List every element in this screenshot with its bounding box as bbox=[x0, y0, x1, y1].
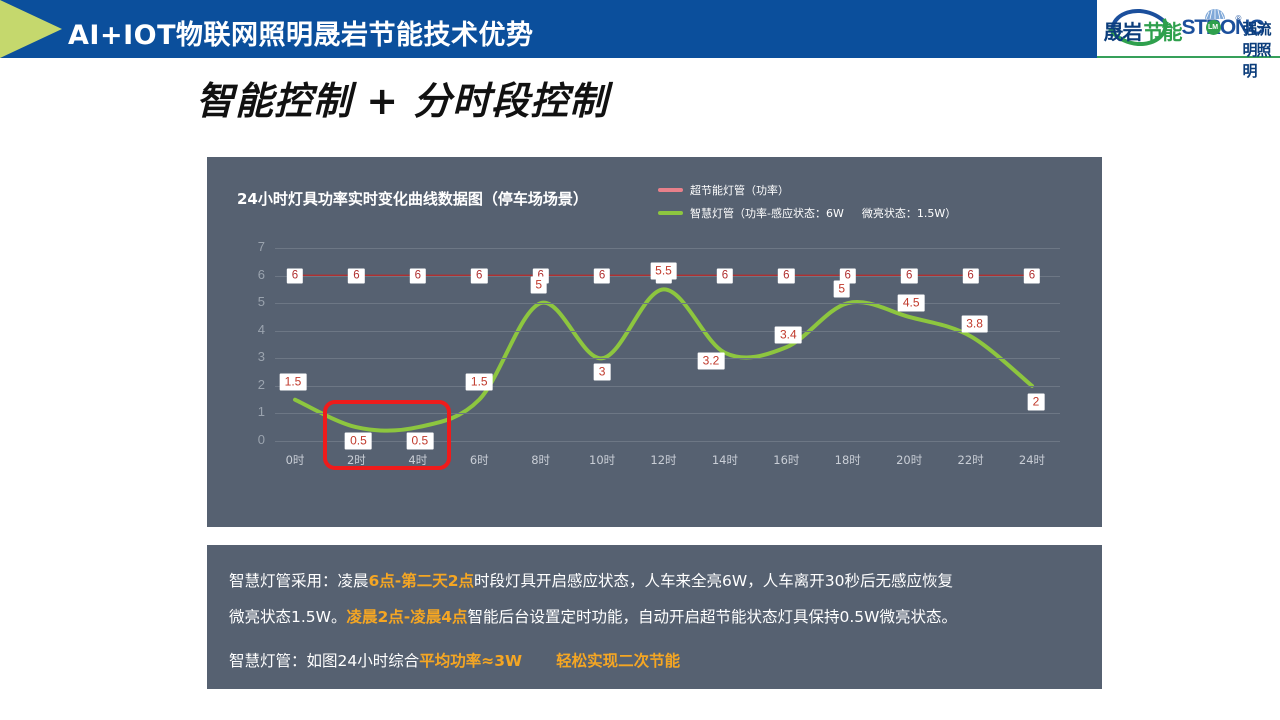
note-2-text-a: 微亮状态1.5W。 bbox=[229, 608, 346, 626]
y-axis-tick-label: 3 bbox=[245, 349, 265, 364]
x-axis-tick-label: 10时 bbox=[577, 452, 627, 468]
chart-data-label: 3 bbox=[594, 364, 611, 381]
company-logo: 晟岩 节能 STRONG LM ® 强流明照明 bbox=[1097, 0, 1280, 58]
chart-data-label: 5 bbox=[833, 281, 850, 298]
y-axis-tick-label: 2 bbox=[245, 377, 265, 392]
header-title: AI+IOT物联网照明晟岩节能技术优势 bbox=[68, 13, 533, 52]
note-line-3: 智慧灯管：如图24小时综合平均功率≈3W轻松实现二次节能 bbox=[229, 643, 1080, 679]
x-axis-tick-label: 20时 bbox=[884, 452, 934, 468]
chart-data-label: 1.5 bbox=[466, 373, 493, 390]
x-axis-tick-label: 0时 bbox=[270, 452, 320, 468]
x-axis-tick-label: 24时 bbox=[1007, 452, 1057, 468]
y-axis-tick-label: 7 bbox=[245, 239, 265, 254]
chart-data-label: 6 bbox=[410, 268, 426, 283]
note-2-text-b: 智能后台设置定时功能，自动开启超节能状态灯具保持0.5W微亮状态。 bbox=[468, 608, 957, 626]
note-3-highlight-2: 轻松实现二次节能 bbox=[556, 652, 680, 670]
y-axis-tick-label: 0 bbox=[245, 432, 265, 447]
chart-svg bbox=[207, 157, 1102, 527]
logo-text-jieneng: 节能 bbox=[1144, 16, 1182, 45]
note-2-highlight: 凌晨2点-凌晨4点 bbox=[346, 608, 467, 626]
logo-registered-mark: ® bbox=[1236, 14, 1242, 23]
chart-data-label: 6 bbox=[778, 268, 794, 283]
logo-fan-icon bbox=[1204, 7, 1226, 19]
chart-data-label: 6 bbox=[594, 268, 610, 283]
grid-line bbox=[275, 358, 1060, 359]
highlight-rectangle bbox=[323, 400, 450, 470]
grid-line bbox=[275, 303, 1060, 304]
chart-data-label: 3.8 bbox=[961, 316, 988, 333]
y-axis-tick-label: 1 bbox=[245, 404, 265, 419]
grid-line bbox=[275, 386, 1060, 387]
y-axis-tick-label: 4 bbox=[245, 322, 265, 337]
y-axis-tick-label: 6 bbox=[245, 267, 265, 282]
x-axis-tick-label: 6时 bbox=[454, 452, 504, 468]
note-line-1: 智慧灯管采用：凌晨6点-第二天2点时段灯具开启感应状态，人车来全亮6W，人车离开… bbox=[229, 563, 1080, 599]
note-3-text-a: 智慧灯管：如图24小时综合 bbox=[229, 652, 419, 670]
logo-lm-badge: LM bbox=[1206, 20, 1221, 35]
logo-text-qiangliuming: 强流明照明 bbox=[1243, 18, 1278, 81]
chart-data-label: 3.2 bbox=[698, 352, 725, 369]
chart-data-label: 6 bbox=[901, 268, 917, 283]
chart-data-label: 5.5 bbox=[650, 263, 677, 280]
page-title: 智能控制 + 分时段控制 bbox=[196, 70, 608, 125]
chart-data-label: 6 bbox=[348, 268, 364, 283]
note-1-highlight: 6点-第二天2点 bbox=[369, 572, 475, 590]
notes-panel: 智慧灯管采用：凌晨6点-第二天2点时段灯具开启感应状态，人车来全亮6W，人车离开… bbox=[207, 545, 1102, 689]
grid-line bbox=[275, 331, 1060, 332]
chart-data-label: 5 bbox=[530, 277, 547, 294]
chart-data-label: 6 bbox=[287, 268, 303, 283]
chart-data-label: 6 bbox=[471, 268, 487, 283]
x-axis-tick-label: 22时 bbox=[946, 452, 996, 468]
x-axis-tick-label: 12时 bbox=[639, 452, 689, 468]
chart-data-label: 3.4 bbox=[775, 327, 802, 344]
note-3-highlight-1: 平均功率≈3W bbox=[419, 652, 522, 670]
chart-plot-area: 012345670时2时4时6时8时10时12时14时16时18时20时22时2… bbox=[207, 157, 1102, 527]
x-axis-tick-label: 16时 bbox=[761, 452, 811, 468]
slide-header: AI+IOT物联网照明晟岩节能技术优势 晟岩 节能 STRONG LM ® bbox=[0, 0, 1280, 58]
chart-data-label: 1.5 bbox=[280, 373, 307, 390]
chart-data-label: 6 bbox=[717, 268, 733, 283]
chart-data-label: 2 bbox=[1028, 393, 1045, 410]
chart-data-label: 6 bbox=[1024, 268, 1040, 283]
logo-text-shengyan: 晟岩 bbox=[1104, 16, 1142, 45]
note-1-text-a: 智慧灯管采用：凌晨 bbox=[229, 572, 369, 590]
chart-panel: 24小时灯具功率实时变化曲线数据图（停车场场景） 超节能灯管（功率） 智慧灯管（… bbox=[207, 157, 1102, 527]
note-line-2: 微亮状态1.5W。凌晨2点-凌晨4点智能后台设置定时功能，自动开启超节能状态灯具… bbox=[229, 599, 1080, 635]
note-1-text-b: 时段灯具开启感应状态，人车来全亮6W，人车离开30秒后无感应恢复 bbox=[474, 572, 953, 590]
grid-line bbox=[275, 248, 1060, 249]
x-axis-tick-label: 8时 bbox=[516, 452, 566, 468]
x-axis-tick-label: 14时 bbox=[700, 452, 750, 468]
chart-data-label: 6 bbox=[962, 268, 978, 283]
y-axis-tick-label: 5 bbox=[245, 294, 265, 309]
slide: AI+IOT物联网照明晟岩节能技术优势 晟岩 节能 STRONG LM ® bbox=[0, 0, 1280, 720]
chart-data-label: 4.5 bbox=[898, 294, 925, 311]
x-axis-tick-label: 18时 bbox=[823, 452, 873, 468]
